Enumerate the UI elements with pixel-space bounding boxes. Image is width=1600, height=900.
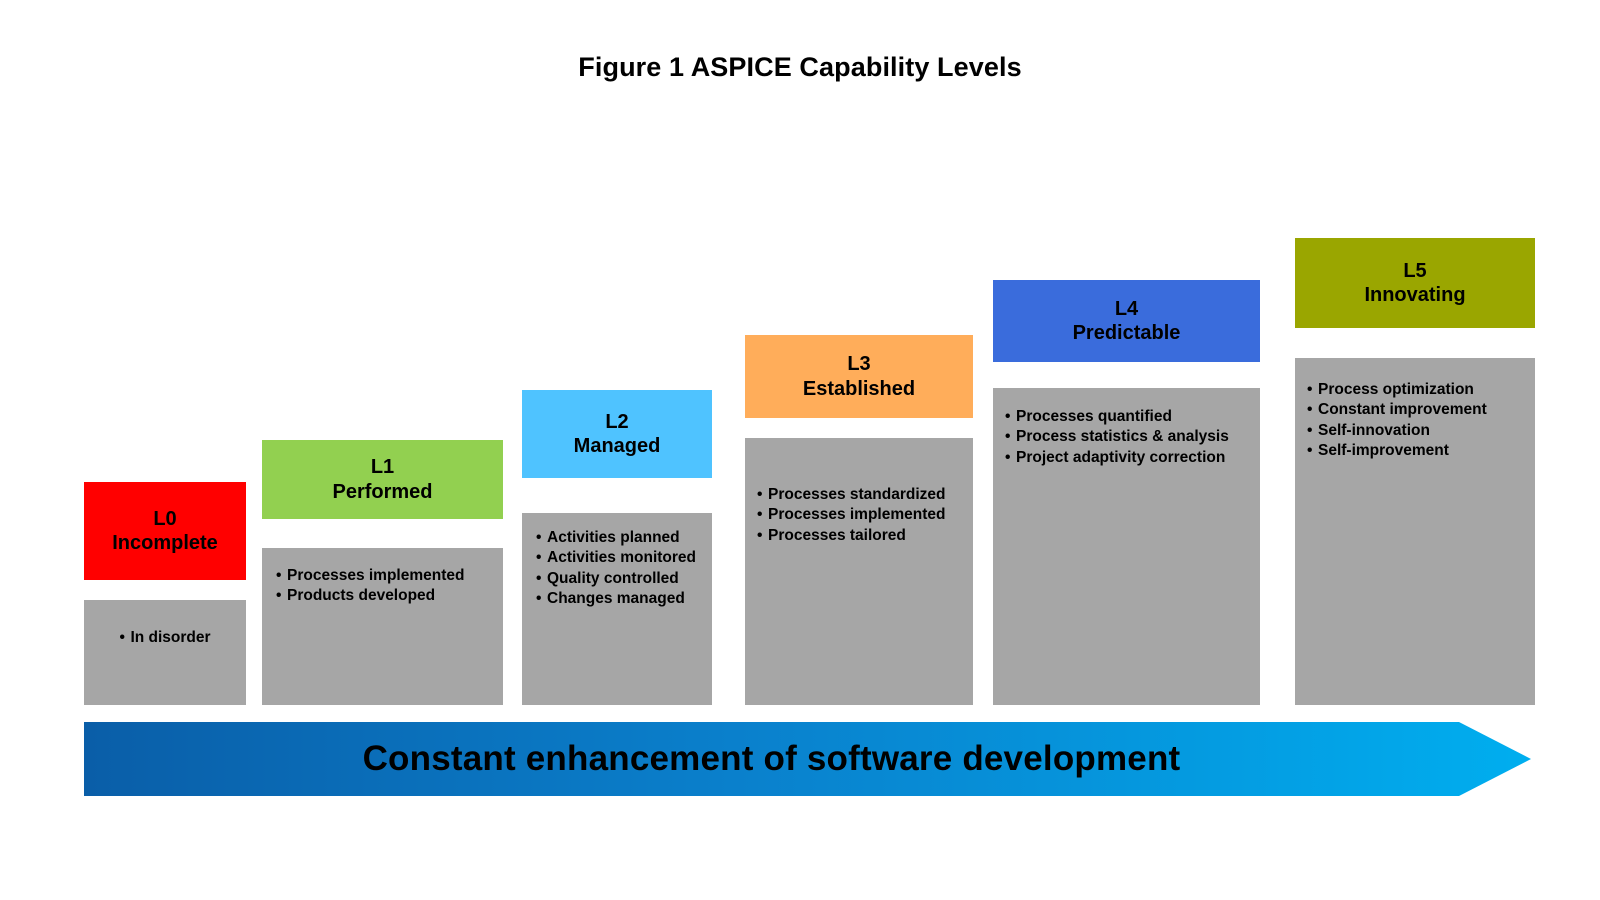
bullet-icon: • xyxy=(1005,448,1016,468)
level-bullets-l0: •In disorder xyxy=(119,628,210,648)
list-item: •Products developed xyxy=(276,586,495,606)
bullet-icon: • xyxy=(536,548,547,568)
bullet-text: Products developed xyxy=(287,587,435,604)
level-header-l1: L1 Performed xyxy=(262,440,503,519)
list-item: •Processes quantified xyxy=(1005,407,1252,427)
progress-arrow xyxy=(84,722,1531,796)
list-item: •In disorder xyxy=(119,628,210,648)
bullet-icon: • xyxy=(1005,427,1016,447)
level-body-l1: •Processes implemented •Products develop… xyxy=(262,548,503,705)
bullet-text: Self-innovation xyxy=(1318,422,1430,439)
level-code-l3: L3 xyxy=(847,352,870,376)
bullet-text: Processes quantified xyxy=(1016,408,1172,425)
bullet-text: Processes tailored xyxy=(768,527,906,544)
bullet-icon: • xyxy=(757,505,768,525)
bullet-icon: • xyxy=(536,589,547,609)
bullet-text: Process optimization xyxy=(1318,381,1474,398)
diagram-canvas: Figure 1 ASPICE Capability Levels L0 Inc… xyxy=(0,0,1600,900)
bullet-icon: • xyxy=(276,586,287,606)
bullet-text: Changes managed xyxy=(547,590,685,607)
level-bullets-l3: •Processes standardized •Processes imple… xyxy=(757,485,965,546)
bullet-icon: • xyxy=(536,528,547,548)
level-body-l5: •Process optimization •Constant improvem… xyxy=(1295,358,1535,705)
list-item: •Changes managed xyxy=(536,589,704,609)
bullet-icon: • xyxy=(119,628,130,648)
list-item: •Process statistics & analysis xyxy=(1005,427,1252,447)
level-name-l5: Innovating xyxy=(1364,283,1465,307)
level-header-l2: L2 Managed xyxy=(522,390,712,478)
list-item: •Constant improvement xyxy=(1307,400,1527,420)
level-code-l1: L1 xyxy=(371,455,394,479)
level-name-l1: Performed xyxy=(332,480,432,504)
level-header-l5: L5 Innovating xyxy=(1295,238,1535,328)
bullet-icon: • xyxy=(757,526,768,546)
list-item: •Activities monitored xyxy=(536,548,704,568)
list-item: •Self-innovation xyxy=(1307,421,1527,441)
level-body-l0: •In disorder xyxy=(84,600,246,705)
bullet-icon: • xyxy=(1307,421,1318,441)
bullet-icon: • xyxy=(757,485,768,505)
bullet-icon: • xyxy=(1005,407,1016,427)
list-item: •Processes implemented xyxy=(276,566,495,586)
bullet-text: Processes implemented xyxy=(287,567,464,584)
level-bullets-l2: •Activities planned •Activities monitore… xyxy=(536,528,704,610)
bullet-text: Processes implemented xyxy=(768,506,945,523)
level-header-l4: L4 Predictable xyxy=(993,280,1260,362)
level-name-l4: Predictable xyxy=(1073,321,1181,345)
page-title: Figure 1 ASPICE Capability Levels xyxy=(0,52,1600,83)
level-code-l4: L4 xyxy=(1115,297,1138,321)
bullet-text: Activities planned xyxy=(547,529,680,546)
list-item: •Processes standardized xyxy=(757,485,965,505)
bullet-text: Quality controlled xyxy=(547,570,679,587)
bullet-icon: • xyxy=(1307,380,1318,400)
bullet-text: In disorder xyxy=(130,629,210,646)
list-item: •Quality controlled xyxy=(536,569,704,589)
list-item: •Activities planned xyxy=(536,528,704,548)
bullet-icon: • xyxy=(1307,400,1318,420)
list-item: •Process optimization xyxy=(1307,380,1527,400)
bullet-text: Self-improvement xyxy=(1318,442,1449,459)
level-bullets-l4: •Processes quantified •Process statistic… xyxy=(1005,407,1252,468)
bullet-icon: • xyxy=(276,566,287,586)
bullet-text: Process statistics & analysis xyxy=(1016,428,1229,445)
arrow-right-icon xyxy=(84,722,1531,796)
bullet-text: Activities monitored xyxy=(547,549,696,566)
level-bullets-l5: •Process optimization •Constant improvem… xyxy=(1307,380,1527,462)
list-item: •Self-improvement xyxy=(1307,441,1527,461)
level-name-l2: Managed xyxy=(574,434,661,458)
level-code-l5: L5 xyxy=(1403,259,1426,283)
bullet-icon: • xyxy=(536,569,547,589)
list-item: •Processes tailored xyxy=(757,526,965,546)
level-name-l0: Incomplete xyxy=(112,531,218,555)
level-header-l3: L3 Established xyxy=(745,335,973,418)
list-item: •Processes implemented xyxy=(757,505,965,525)
level-name-l3: Established xyxy=(803,377,915,401)
list-item: •Project adaptivity correction xyxy=(1005,448,1252,468)
bullet-text: Processes standardized xyxy=(768,486,945,503)
level-body-l3: •Processes standardized •Processes imple… xyxy=(745,438,973,705)
level-body-l2: •Activities planned •Activities monitore… xyxy=(522,513,712,705)
bullet-text: Project adaptivity correction xyxy=(1016,449,1225,466)
level-header-l0: L0 Incomplete xyxy=(84,482,246,580)
level-bullets-l1: •Processes implemented •Products develop… xyxy=(276,566,495,607)
bullet-icon: • xyxy=(1307,441,1318,461)
level-code-l0: L0 xyxy=(153,507,176,531)
level-code-l2: L2 xyxy=(605,410,628,434)
level-body-l4: •Processes quantified •Process statistic… xyxy=(993,388,1260,705)
bullet-text: Constant improvement xyxy=(1318,401,1487,418)
